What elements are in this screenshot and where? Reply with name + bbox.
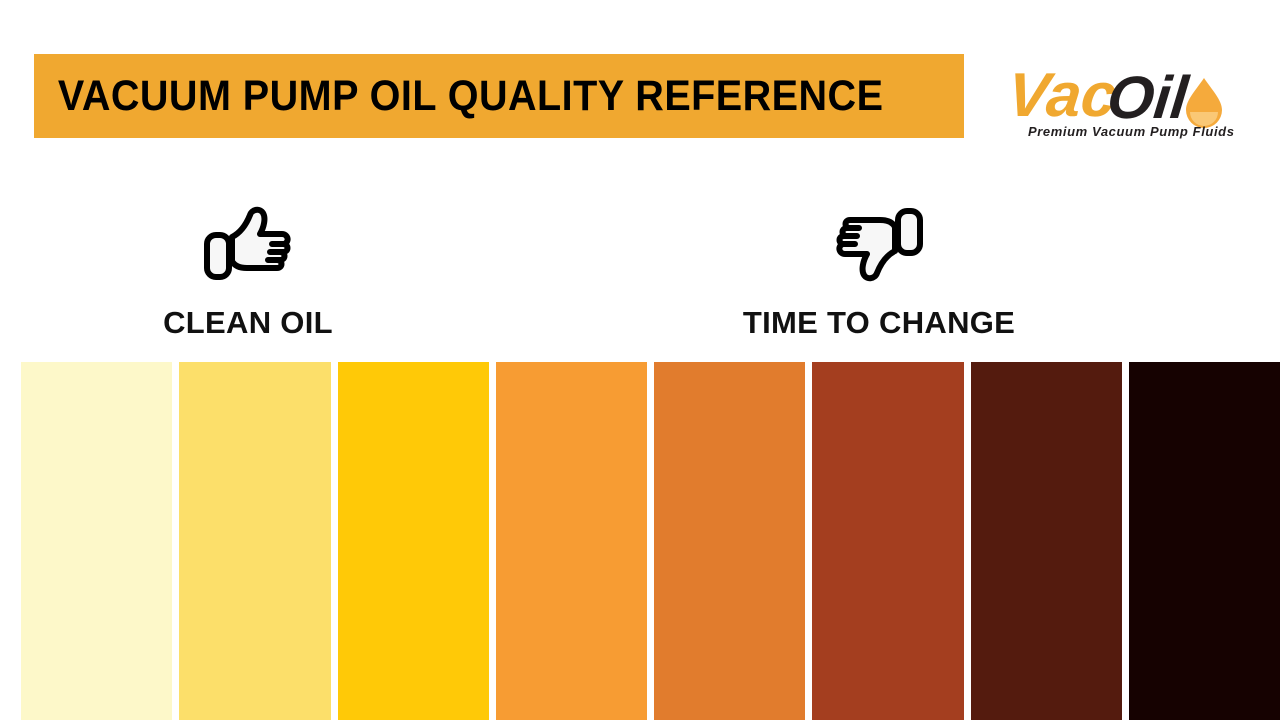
svg-text:Premium Vacuum Pump Fluids: Premium Vacuum Pump Fluids <box>1028 124 1235 139</box>
logo-wordmark-vac: Vac <box>1008 61 1119 130</box>
logo-droplet-icon <box>1186 78 1222 128</box>
swatch-8 <box>1129 362 1280 720</box>
page-title: VACUUM PUMP OIL QUALITY REFERENCE <box>34 72 883 121</box>
swatch-7 <box>971 362 1122 720</box>
rating-clean-oil: CLEAN OIL <box>98 205 398 341</box>
swatch-4 <box>496 362 647 720</box>
svg-text:Oil: Oil <box>1104 64 1192 131</box>
vacoil-logo: Vac Oil Premium Vacuum Pump Fluids <box>1008 56 1248 142</box>
logo-tagline: Premium Vacuum Pump Fluids <box>1028 124 1235 139</box>
swatch-3 <box>338 362 489 720</box>
svg-text:Vac: Vac <box>1008 61 1119 130</box>
rating-label-clean-oil: CLEAN OIL <box>163 305 333 341</box>
header-bar: VACUUM PUMP OIL QUALITY REFERENCE <box>34 54 964 138</box>
oil-color-swatch-strip <box>21 362 1280 720</box>
thumbs-down-icon <box>833 205 925 283</box>
swatch-6 <box>812 362 963 720</box>
swatch-2 <box>179 362 330 720</box>
rating-time-to-change: TIME TO CHANGE <box>729 205 1029 341</box>
swatch-5 <box>654 362 805 720</box>
logo-wordmark-oil: Oil <box>1104 64 1192 131</box>
rating-label-time-to-change: TIME TO CHANGE <box>743 305 1015 341</box>
swatch-1 <box>21 362 172 720</box>
thumbs-up-icon <box>202 205 294 283</box>
